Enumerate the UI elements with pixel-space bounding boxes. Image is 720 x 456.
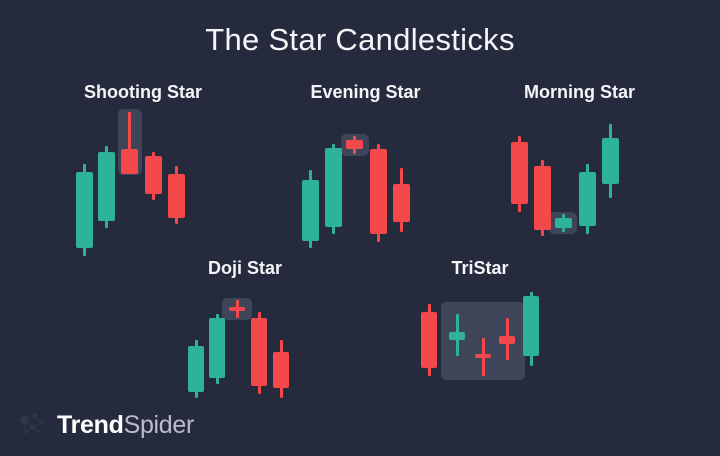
pattern-title-tristar: TriStar: [405, 258, 555, 279]
candle-body-doji: [475, 354, 491, 358]
pattern-title-evening-star: Evening Star: [278, 82, 453, 103]
candle-body: [602, 138, 619, 184]
candle-body: [346, 140, 363, 149]
brand-name-light: Spider: [124, 411, 194, 439]
candle-body: [393, 184, 410, 222]
pattern-title-doji-star: Doji Star: [170, 258, 320, 279]
candle-body: [251, 318, 267, 386]
candle-body: [523, 296, 539, 356]
candle-body: [76, 172, 93, 248]
candle-body-doji: [499, 336, 515, 344]
candle-body: [534, 166, 551, 230]
pattern-title-shooting-star: Shooting Star: [48, 82, 238, 103]
spider-web-icon: [18, 411, 48, 439]
brand-wordmark: TrendSpider: [57, 413, 194, 438]
candle-body-doji: [229, 307, 245, 311]
candle-body: [302, 180, 319, 241]
pattern-title-morning-star: Morning Star: [487, 82, 672, 103]
candle-body: [370, 149, 387, 234]
candlestick-chart-morning-star: [487, 108, 672, 268]
candlestick-chart-evening-star: [278, 108, 453, 268]
candle-body: [145, 156, 162, 194]
candle-body: [579, 172, 596, 226]
candlestick-chart-tristar: [405, 284, 555, 404]
page-title: The Star Candlesticks: [0, 22, 720, 58]
brand-logo: TrendSpider: [18, 408, 194, 442]
candle-body: [421, 312, 437, 368]
candle-body: [555, 218, 572, 228]
candle-body: [209, 318, 225, 378]
candlestick-chart-doji-star: [170, 284, 320, 404]
infographic-canvas: The Star Candlesticks Shooting StarEveni…: [0, 0, 720, 456]
candle-body: [98, 152, 115, 221]
candle-body: [325, 148, 342, 227]
candlestick-chart-shooting-star: [48, 108, 238, 268]
candle-body: [121, 149, 138, 174]
brand-name-bold: Trend: [57, 411, 124, 439]
candle-body-doji: [449, 332, 465, 340]
candle-body: [511, 142, 528, 204]
candle-body: [273, 352, 289, 388]
candle-body: [168, 174, 185, 218]
candle-body: [188, 346, 204, 392]
